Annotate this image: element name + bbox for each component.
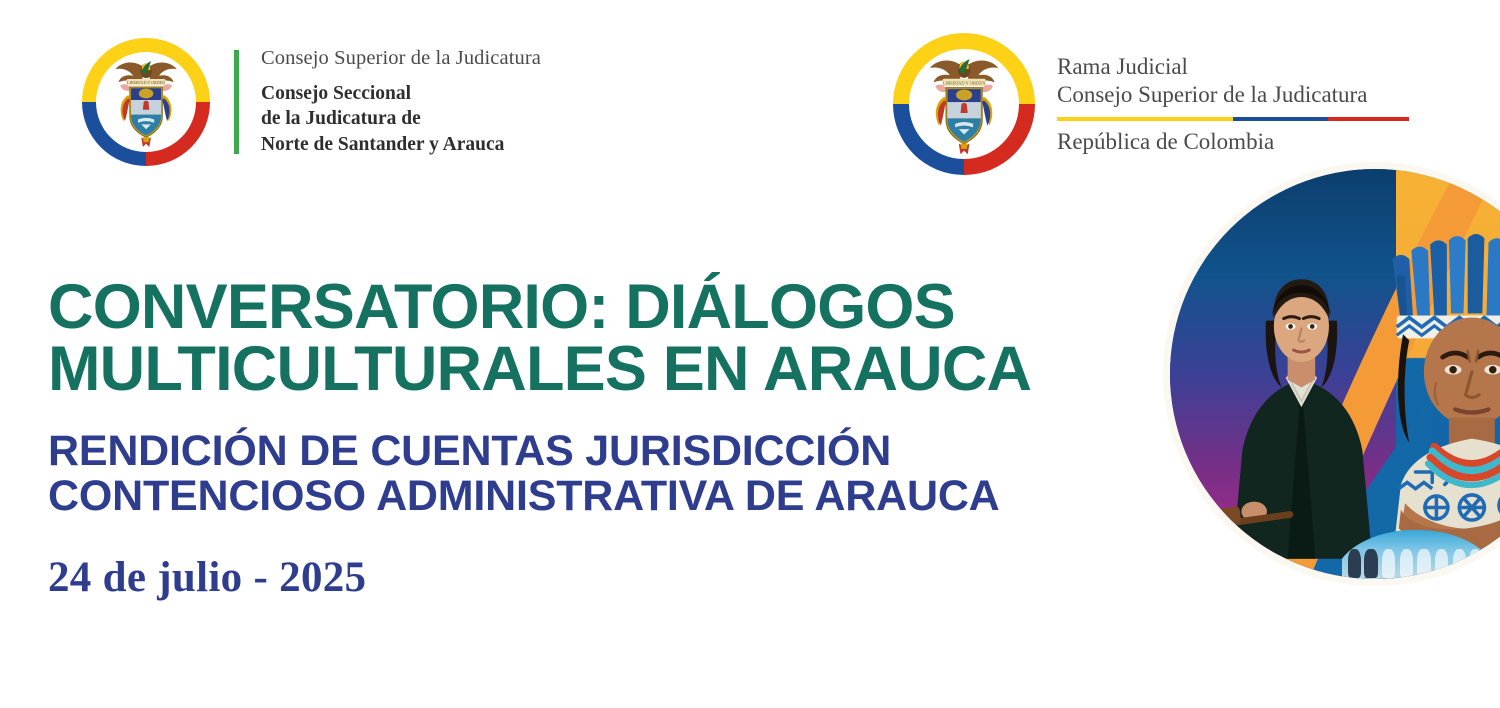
right-logo-block: LIBERTAD Y ORDEN (893, 33, 1409, 175)
title-line-1: CONVERSATORIO: DIÁLOGOS (48, 276, 1168, 338)
right-logo-line-2: Consejo Superior de la Judicatura (1057, 81, 1409, 108)
colombia-coat-of-arms-roundel-icon: LIBERTAD Y ORDEN (893, 33, 1035, 175)
circular-photo-frame (1163, 162, 1500, 586)
tricolor-red (1328, 117, 1409, 121)
title-line-2: MULTICULTURALES EN ARAUCA (48, 338, 1168, 400)
coat-of-arms-icon: LIBERTAD Y ORDEN (913, 50, 1015, 158)
left-logo-line-3: de la Judicatura de (261, 106, 541, 131)
crowd-figure (1417, 549, 1430, 578)
subtitle-line-2: CONTENCIOSO ADMINISTRATIVA DE ARAUCA (48, 474, 1168, 519)
crowd-figure (1400, 549, 1413, 578)
right-logo-line-1: Rama Judicial (1057, 53, 1409, 80)
main-content: CONVERSATORIO: DIÁLOGOS MULTICULTURALES … (48, 276, 1168, 602)
header-bar: LIBERTAD Y ORDEN (0, 0, 1500, 180)
crowd-figure (1348, 549, 1361, 578)
crowd-figure (1469, 549, 1482, 578)
left-logo-line-1: Consejo Superior de la Judicatura (261, 47, 541, 70)
left-logo-block: LIBERTAD Y ORDEN (82, 38, 541, 166)
subtitle-line-1: RENDICIÓN DE CUENTAS JURISDICCIÓN (48, 429, 1168, 474)
crowd-figure (1435, 549, 1448, 578)
coat-of-arms-icon: LIBERTAD Y ORDEN (100, 53, 192, 150)
page-title: CONVERSATORIO: DIÁLOGOS MULTICULTURALES … (48, 276, 1168, 400)
svg-text:LIBERTAD Y ORDEN: LIBERTAD Y ORDEN (127, 81, 165, 86)
right-logo-line-3: República de Colombia (1057, 129, 1409, 155)
right-logo-text: Rama Judicial Consejo Superior de la Jud… (1057, 53, 1409, 154)
indigenous-elder-figure (1355, 202, 1500, 579)
crowd-figure (1453, 549, 1466, 578)
circular-composite-photo (1170, 169, 1500, 579)
left-logo-line-2: Consejo Seccional (261, 81, 541, 106)
svg-text:LIBERTAD Y ORDEN: LIBERTAD Y ORDEN (943, 81, 986, 86)
crowd-figure (1382, 549, 1395, 578)
crowd-figure (1364, 549, 1377, 578)
feather-headdress (1392, 234, 1500, 324)
green-divider-bar (234, 50, 239, 154)
event-date: 24 de julio - 2025 (48, 553, 1168, 602)
colombia-tricolor-rule (1057, 117, 1409, 121)
colombia-coat-of-arms-roundel-icon: LIBERTAD Y ORDEN (82, 38, 210, 166)
left-logo-line-4: Norte de Santander y Arauca (261, 132, 541, 157)
page-subtitle: RENDICIÓN DE CUENTAS JURISDICCIÓN CONTEN… (48, 429, 1168, 518)
tricolor-blue (1233, 117, 1328, 121)
tricolor-yellow (1057, 117, 1233, 121)
left-logo-text: Consejo Superior de la Judicatura Consej… (261, 47, 541, 157)
